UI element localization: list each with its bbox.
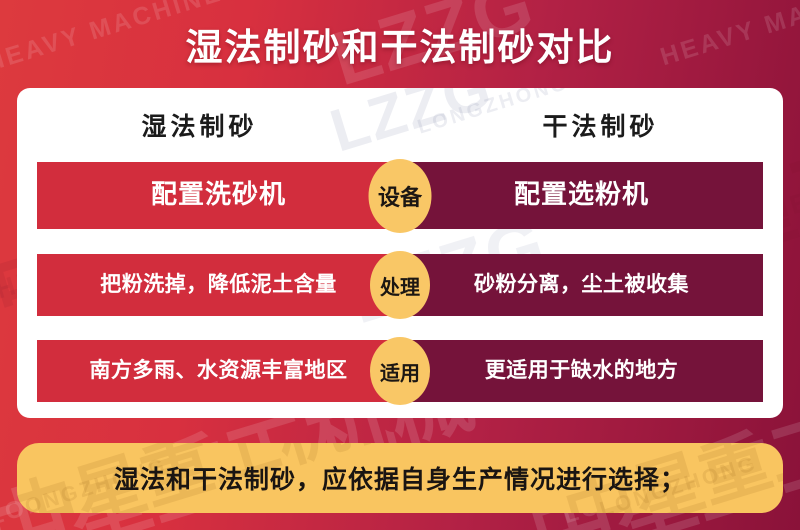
row-left-cell: 配置洗砂机: [37, 162, 400, 229]
column-headers: 湿法制砂 干法制砂: [17, 88, 783, 162]
poster-title: 湿法制砂和干法制砂对比: [0, 14, 800, 74]
row-badge-equipment: 设备: [369, 159, 432, 233]
comparison-row: 把粉洗掉，降低泥土含量 砂粉分离，尘土被收集 处理: [37, 254, 763, 316]
comparison-card: LZZG LONGZHONG LZZG 湿法制砂 干法制砂 配置洗砂机 配置选粉…: [17, 88, 783, 418]
row-right-cell: 砂粉分离，尘土被收集: [400, 254, 763, 316]
footer-note-box: 中星重工机械 LONGZHONG 中星重工机械 LONGZHONG 湿法和干法制…: [17, 443, 783, 513]
column-header-dry: 干法制砂: [400, 107, 783, 143]
row-badge-process: 处理: [370, 251, 430, 319]
poster-canvas: 中星重工机械 HEAVY MACHINERY 中星重工机械 HEAVY MACH…: [0, 0, 800, 530]
footer-note-text: 湿法和干法制砂，应依据自身生产情况进行选择；: [114, 460, 686, 496]
row-right-cell: 配置选粉机: [400, 162, 763, 229]
row-left-cell: 南方多雨、水资源丰富地区: [37, 340, 400, 402]
column-header-wet: 湿法制砂: [17, 107, 400, 143]
row-badge-application: 适用: [370, 337, 430, 405]
row-right-cell: 更适用于缺水的地方: [400, 340, 763, 402]
row-left-cell: 把粉洗掉，降低泥土含量: [37, 254, 400, 316]
comparison-row: 南方多雨、水资源丰富地区 更适用于缺水的地方 适用: [37, 340, 763, 402]
comparison-row: 配置洗砂机 配置选粉机 设备: [37, 162, 763, 229]
